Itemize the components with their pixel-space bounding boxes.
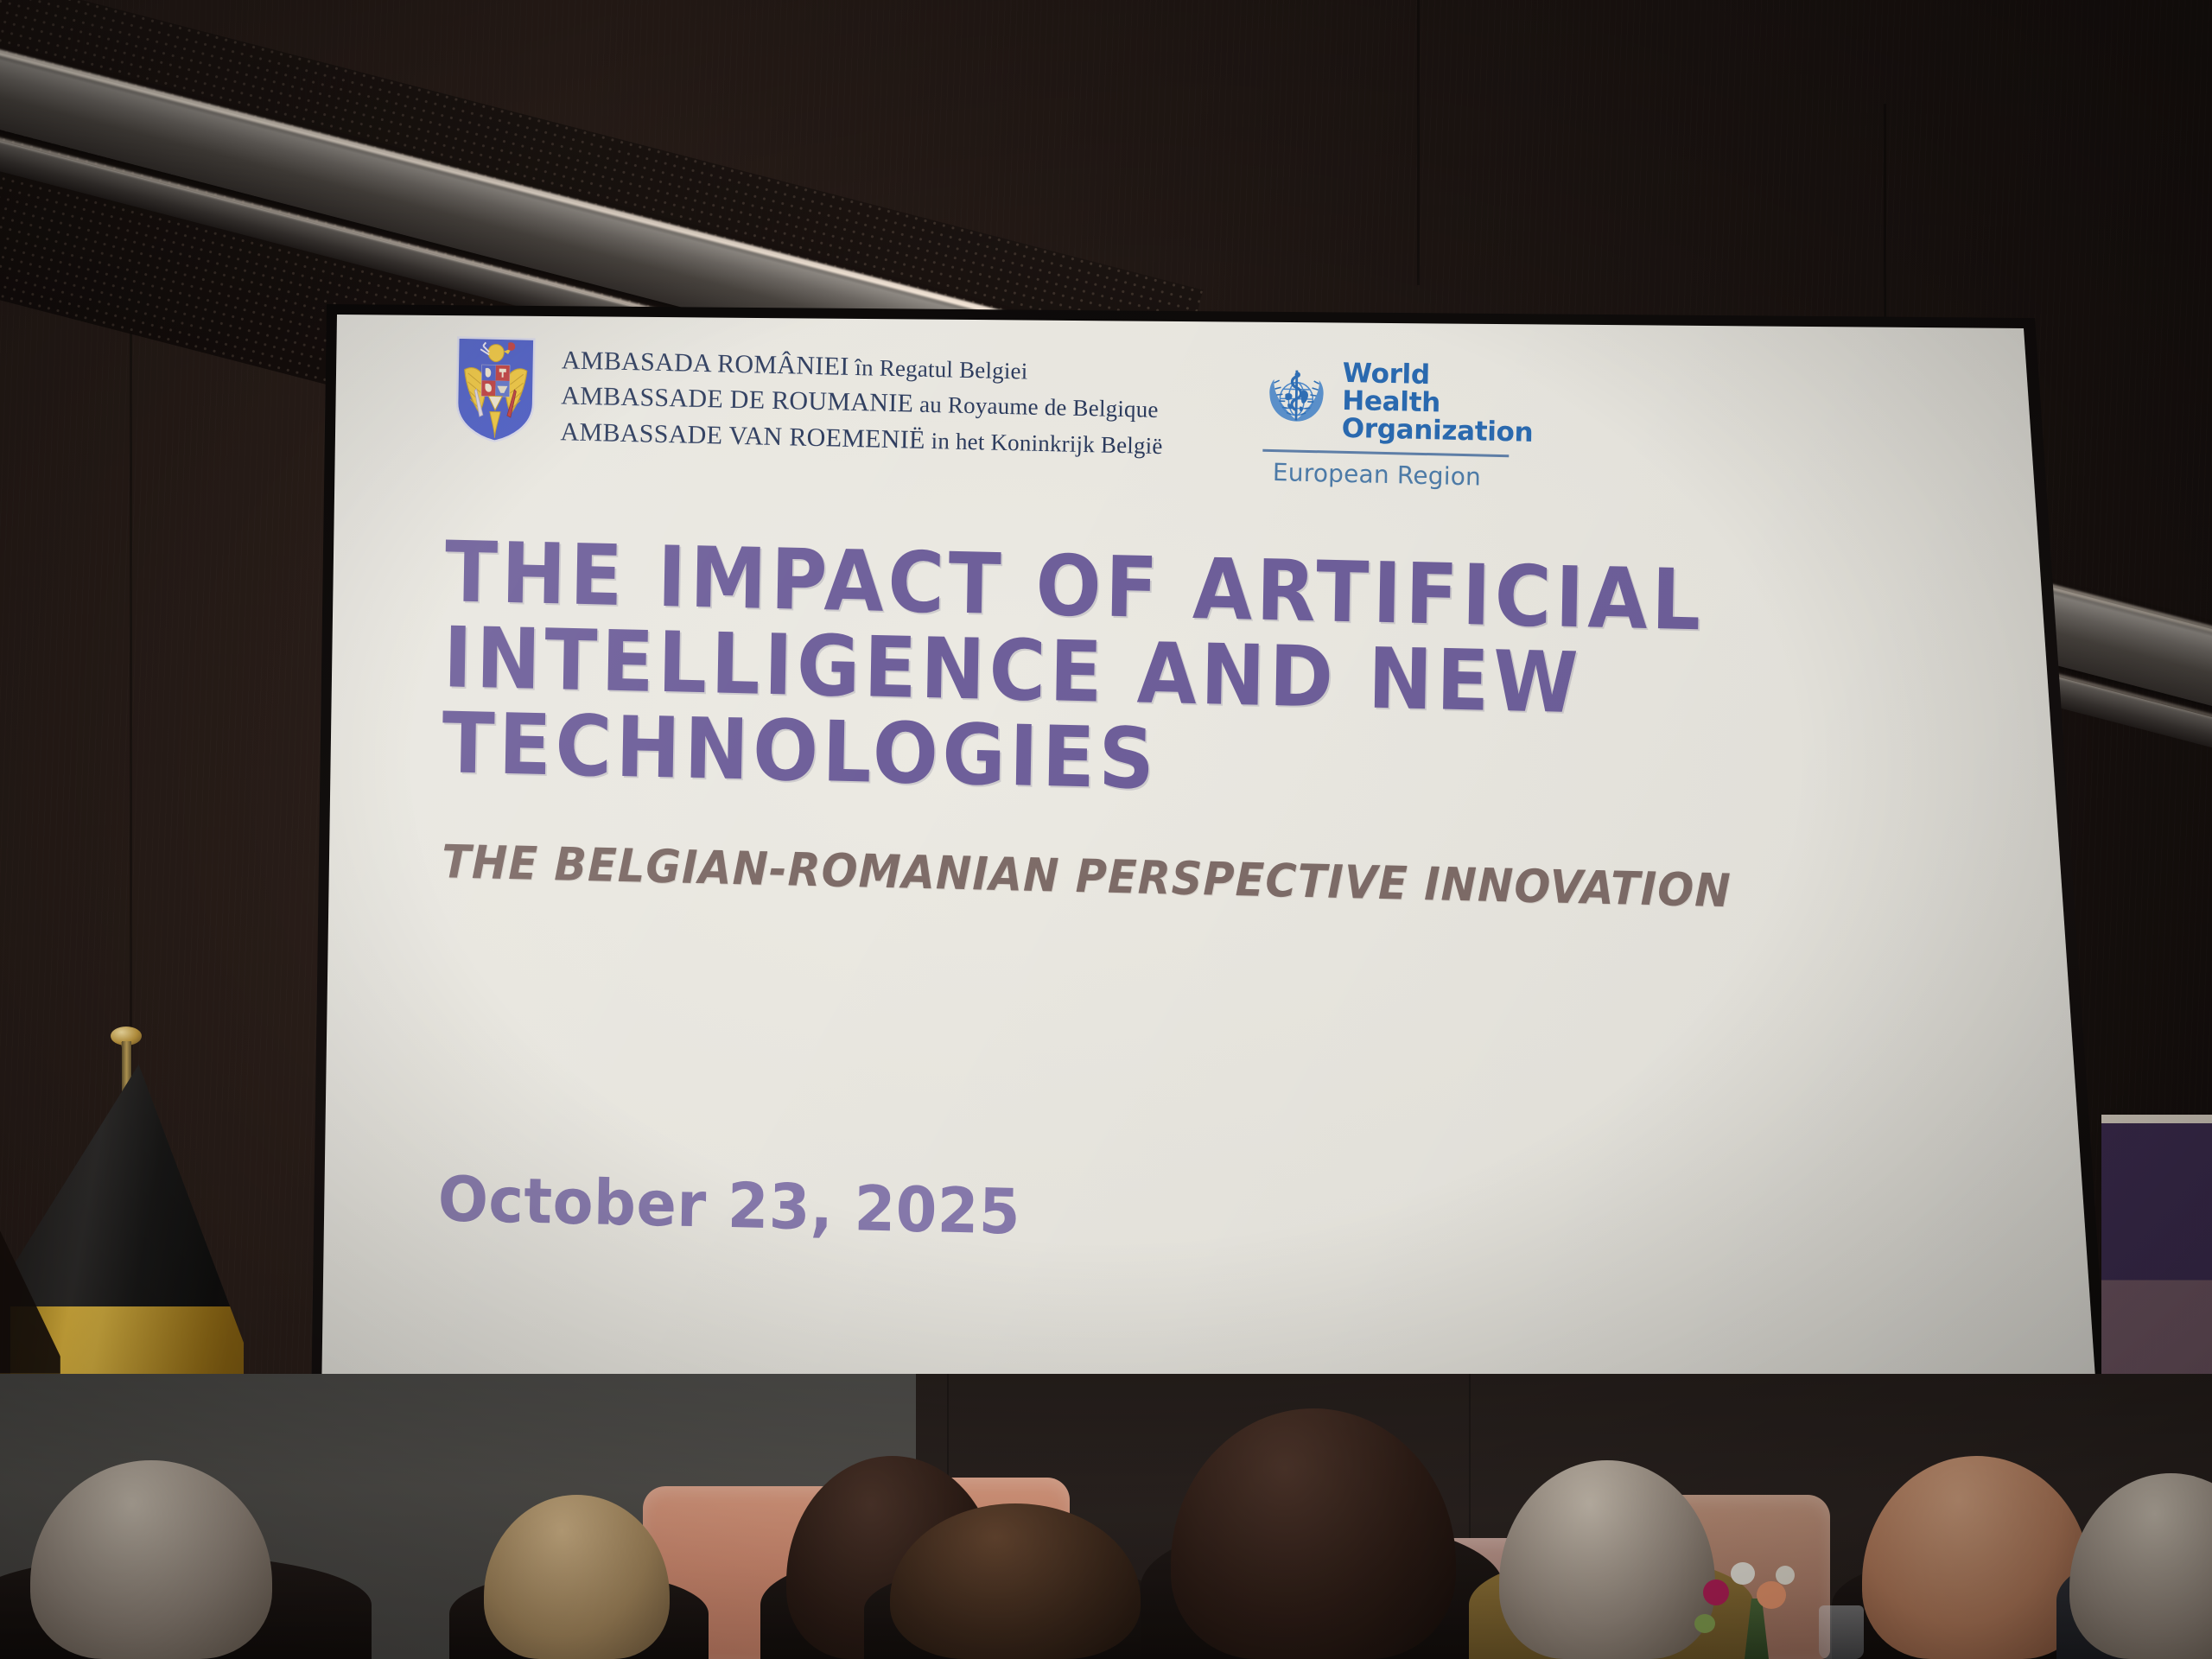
flower xyxy=(1776,1566,1795,1585)
slide-subtitle: THE BELGIAN-ROMANIAN PERSPECTIVE INNOVAT… xyxy=(442,836,1889,921)
slide-date: October 23, 2025 xyxy=(437,1162,1020,1248)
water-glass xyxy=(1819,1605,1864,1659)
presentation-slide: AMBASADA ROMÂNIEI în Regatul Belgiei AMB… xyxy=(302,304,2041,1501)
flower-leaf xyxy=(1694,1614,1715,1633)
embassy-text-lines: AMBASADA ROMÂNIEI în Regatul Belgiei AMB… xyxy=(560,337,1164,463)
who-emblem-icon xyxy=(1262,365,1332,436)
who-logo-block: World Health Organization European Regio… xyxy=(1261,359,1522,493)
wall-seam xyxy=(1417,0,1420,285)
flower xyxy=(1757,1581,1786,1609)
right-wall-panel xyxy=(2101,1115,2212,1400)
who-line-1: World Health xyxy=(1342,360,1535,420)
flower xyxy=(1731,1562,1755,1585)
photo-scene: AMBASADA ROMÂNIEI în Regatul Belgiei AMB… xyxy=(0,0,2212,1659)
flower xyxy=(1703,1580,1729,1605)
who-divider xyxy=(1262,449,1509,457)
flower-arrangement xyxy=(1689,1555,1819,1659)
romania-coat-of-arms-icon xyxy=(453,335,537,445)
who-wordmark: World Health Organization xyxy=(1341,360,1534,448)
slide-title: THE IMPACT OF ARTIFICIAL INTELLIGENCE AN… xyxy=(442,530,1749,816)
who-region-label: European Region xyxy=(1261,457,1520,492)
embassy-logo-block: AMBASADA ROMÂNIEI în Regatul Belgiei AMB… xyxy=(453,335,1164,464)
audience-area xyxy=(0,1374,2212,1659)
who-line-2: Organization xyxy=(1341,416,1533,448)
